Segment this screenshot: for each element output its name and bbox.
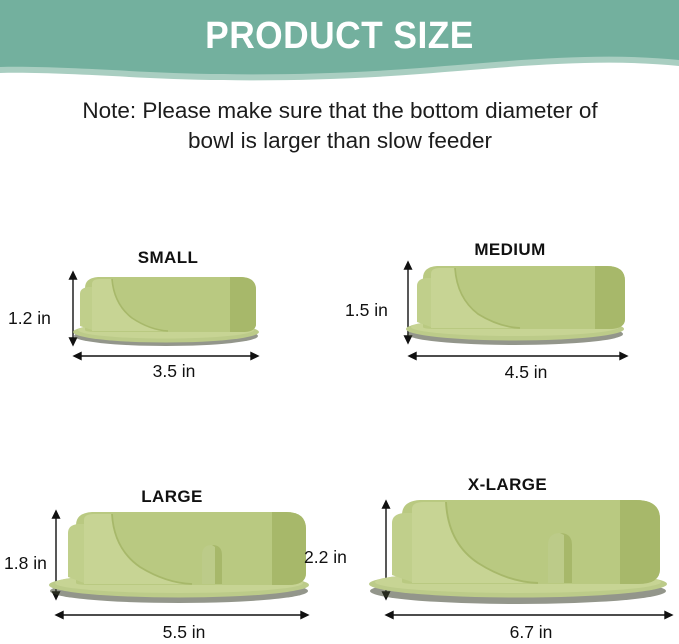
height-label-large: 1.8 in [4, 553, 47, 574]
width-dimension-line-small [74, 353, 258, 360]
width-label-small: 3.5 in [86, 361, 262, 382]
note-line-2: bowl is larger than slow feeder [50, 126, 630, 156]
height-label-small: 1.2 in [8, 308, 51, 329]
product-panel-medium: MEDIUM 1.5 in 4.5 in [345, 240, 675, 380]
outer-wall-right-medium [595, 266, 625, 329]
width-label-medium: 4.5 in [421, 362, 631, 383]
outer-wall-right-small [230, 277, 256, 332]
page-title: PRODUCT SIZE [24, 14, 655, 58]
width-label-xlarge: 6.7 in [392, 622, 670, 643]
note-text: Note: Please make sure that the bottom d… [50, 96, 630, 156]
product-panel-large: LARGE 1.8 in 5.5 in [4, 487, 340, 644]
outer-wall-right-large [272, 512, 306, 585]
left-lip-large [68, 524, 84, 583]
outer-wall-right-xlarge [620, 500, 660, 584]
product-panel-xlarge: X-LARGE 2.2 in 6.7 in [336, 475, 679, 644]
height-label-medium: 1.5 in [345, 300, 388, 321]
left-lip-medium [417, 278, 431, 327]
width-dimension-line-large [56, 612, 308, 619]
left-lip-small [80, 287, 92, 330]
left-lip-xlarge [392, 513, 412, 582]
note-line-1: Note: Please make sure that the bottom d… [50, 96, 630, 126]
width-dimension-line-xlarge [386, 612, 672, 619]
width-dimension-line-medium [409, 353, 627, 360]
header-banner: PRODUCT SIZE [0, 0, 679, 90]
width-label-large: 5.5 in [62, 622, 306, 643]
product-panel-small: SMALL 1.2 in 3.5 in [8, 248, 328, 378]
height-label-xlarge: 2.2 in [304, 547, 347, 568]
